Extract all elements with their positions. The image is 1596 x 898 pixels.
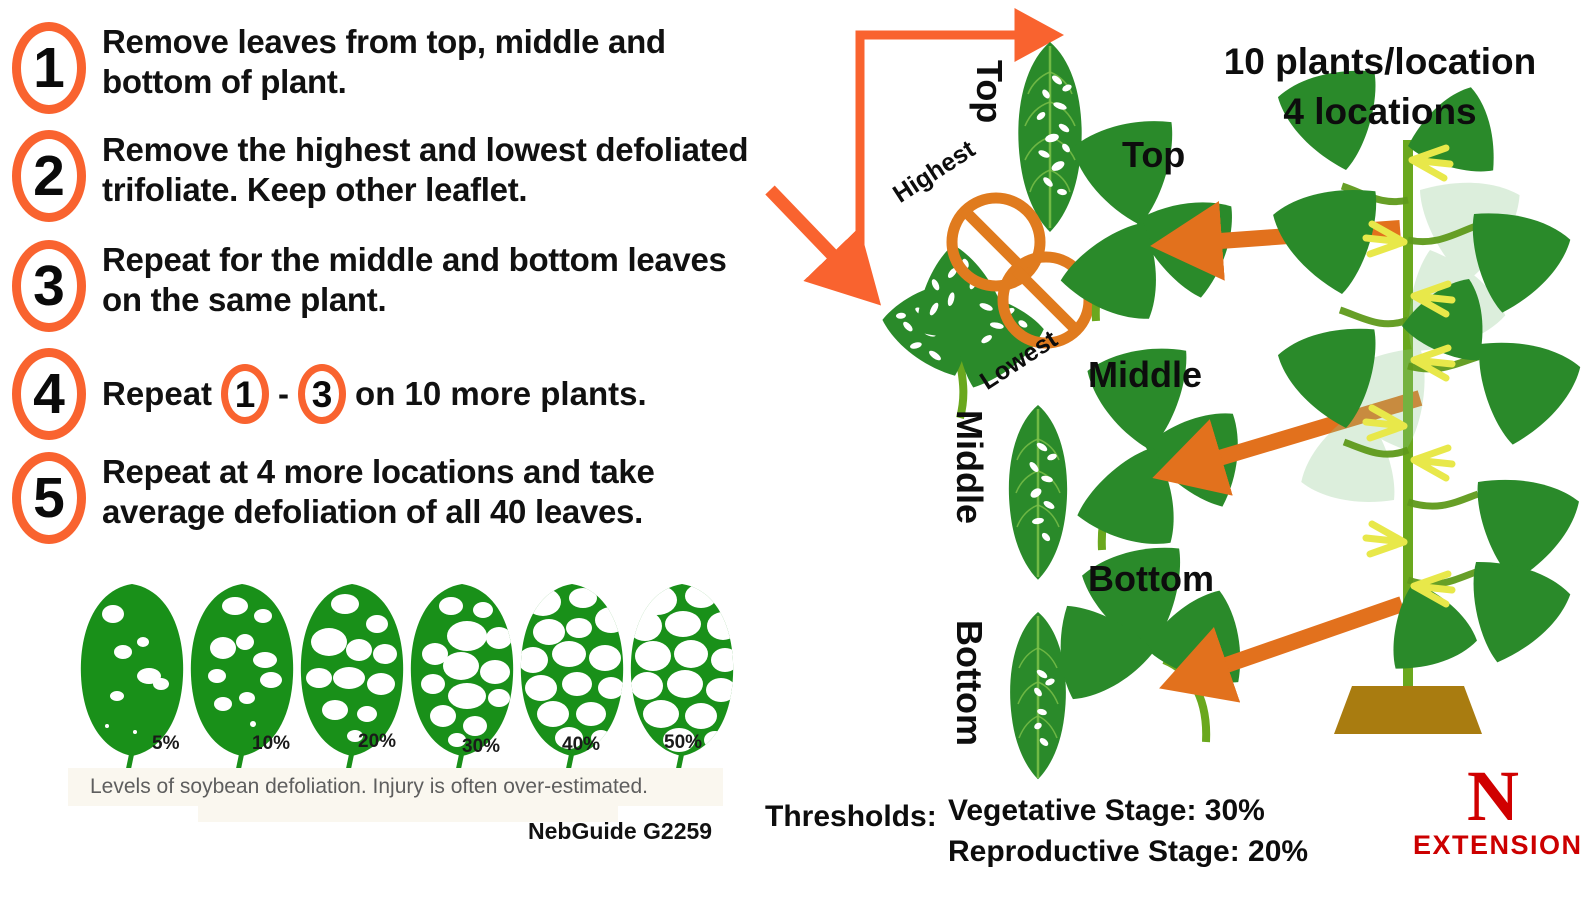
trifoliate-label-top: Top [1122,134,1185,176]
defoliation-label-20: 20% [358,731,396,753]
step-badge-5: 5 [12,452,86,544]
pulled-leaf-bottom [1010,612,1066,779]
step-text-1: Remove leaves from top, middle and botto… [102,22,762,103]
defoliation-caption: Levels of soybean defoliation. Injury is… [90,775,648,799]
pulled-leaf-label-middle: Middle [948,410,990,524]
step-text-3: Repeat for the middle and bottom leaves … [102,240,762,321]
step-badge-1: 1 [12,22,86,114]
defoliation-label-40: 40% [562,734,600,756]
thresholds-values: Vegetative Stage: 30% Reproductive Stage… [948,790,1308,873]
step-item-2: 2 Remove the highest and lowest defoliat… [12,130,762,222]
extension-wordmark: EXTENSION [1413,830,1573,861]
step-item-4: 4 Repeat 1 - 3 on 10 more plants. [12,348,647,440]
step4-inline-badge-1: 1 [221,364,269,424]
source-citation: NebGuide G2259 [528,818,712,845]
pulled-leaf-label-top: Top [968,60,1010,123]
defoliation-label-50: 50% [664,732,702,754]
defoliation-label-30: 30% [462,736,500,758]
sampling-header-line1: 10 plants/location [1180,40,1580,84]
soybean-plant-graphic [1290,130,1590,770]
step-badge-4: 4 [12,348,86,440]
trifoliate-label-middle: Middle [1088,354,1202,396]
step4-text-before: Repeat [102,375,212,413]
defoliation-label-10: 10% [252,733,290,755]
threshold-reproductive: Reproductive Stage: 20% [948,831,1308,872]
step-item-3: 3 Repeat for the middle and bottom leave… [12,240,762,332]
sampling-header-line2: 4 locations [1180,90,1580,134]
trifoliate-label-bottom: Bottom [1088,558,1214,600]
step-badge-2: 2 [12,130,86,222]
step4-inline-badge-3: 3 [298,364,346,424]
threshold-vegetative: Vegetative Stage: 30% [948,790,1308,831]
step-item-5: 5 Repeat at 4 more locations and take av… [12,452,762,544]
pulled-leaf-label-bottom: Bottom [948,620,990,746]
step-text-4: Repeat 1 - 3 on 10 more plants. [102,364,647,424]
nebraska-extension-logo: N EXTENSION [1413,762,1573,888]
pulled-leaf-top [1018,42,1081,232]
steps-panel: 1 Remove leaves from top, middle and bot… [0,0,800,560]
thresholds-label: Thresholds: [765,800,937,834]
husker-n-icon: N [1413,762,1573,830]
step4-text-after: on 10 more plants. [355,375,647,413]
infographic-canvas: 1 Remove leaves from top, middle and bot… [0,0,1596,898]
step-badge-3: 3 [12,240,86,332]
pulled-leaf-middle [1009,405,1067,580]
step-item-1: 1 Remove leaves from top, middle and bot… [12,22,762,114]
defoliation-label-5: 5% [152,733,179,755]
discard-marker-highest [952,198,1040,286]
step4-dash: - [278,375,289,413]
step-text-2: Remove the highest and lowest defoliated… [102,130,762,211]
step-text-5: Repeat at 4 more locations and take aver… [102,452,762,533]
soil-mound [1334,686,1482,734]
